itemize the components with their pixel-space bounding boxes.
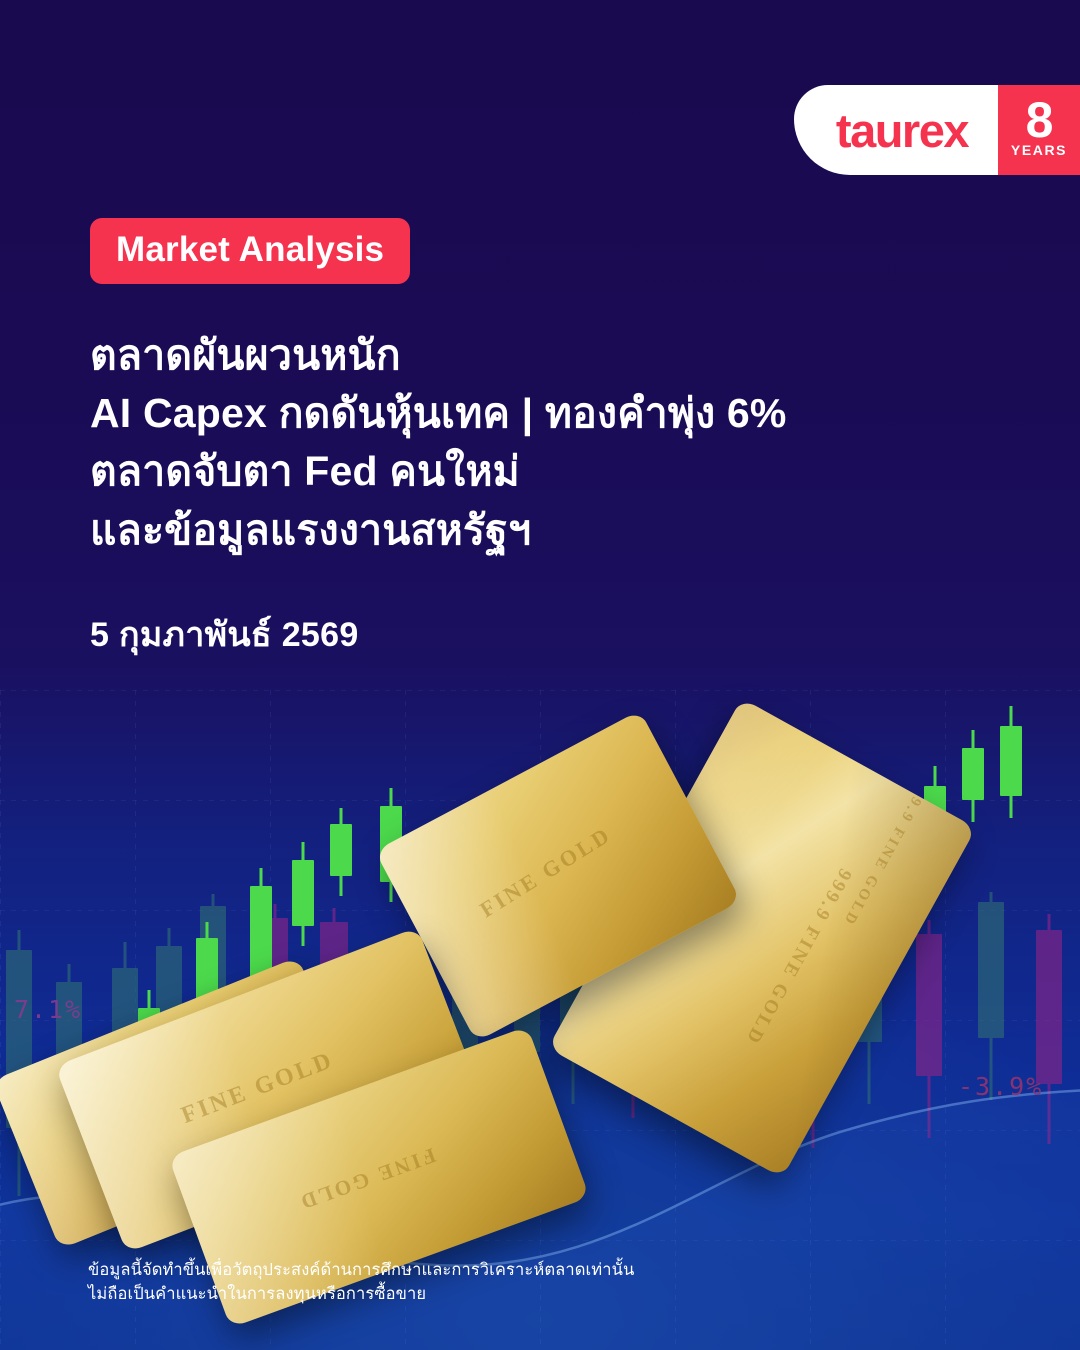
gold-bar-emboss-text: 999.9 FINE GOLD	[839, 775, 934, 929]
gold-bar-emboss-text: FINE GOLD	[295, 1143, 439, 1216]
gold-bars-group: 999.9 FINE GOLD 999.9 FINE GOLD FINE GOL…	[0, 700, 1080, 1300]
headline-line-2: AI Capex กดดันหุ้นเทค | ทองคำพุ่ง 6%	[90, 384, 990, 442]
anniversary-number: 8	[1026, 97, 1053, 143]
headline: ตลาดผันผวนหนัก AI Capex กดดันหุ้นเทค | ท…	[90, 326, 990, 559]
gold-bar-emboss-text: FINE GOLD	[476, 822, 617, 923]
poster-canvas: 7.1%+12%-8.9%-3.9% 999.9 FINE GOLD 999.9…	[0, 0, 1080, 1350]
brand-wordmark: taurex	[836, 107, 968, 154]
publication-date: 5 กุมภาพันธ์ 2569	[90, 607, 990, 661]
disclaimer-text: ข้อมูลนี้จัดทำขึ้นเพื่อวัตถุประสงค์ด้านก…	[88, 1258, 634, 1306]
anniversary-badge: 8 YEARS	[998, 85, 1080, 175]
taurex-logo[interactable]: taurex 8 YEARS	[794, 85, 1080, 175]
anniversary-label: YEARS	[1011, 143, 1067, 157]
logo-panel: taurex	[794, 85, 998, 175]
headline-line-1: ตลาดผันผวนหนัก	[90, 326, 990, 384]
headline-line-4: และข้อมูลแรงงานสหรัฐฯ	[90, 501, 990, 559]
market-analysis-badge: Market Analysis	[90, 218, 410, 284]
headline-line-3: ตลาดจับตา Fed คนใหม่	[90, 442, 990, 500]
gold-bar-emboss-text-2: 999.9 FINE GOLD	[740, 864, 856, 1048]
disclaimer-line-2: ไม่ถือเป็นคำแนะนำในการลงทุนหรือการซื้อขา…	[88, 1282, 634, 1306]
disclaimer-line-1: ข้อมูลนี้จัดทำขึ้นเพื่อวัตถุประสงค์ด้านก…	[88, 1258, 634, 1282]
text-content-block: Market Analysis ตลาดผันผวนหนัก AI Capex …	[90, 218, 990, 661]
